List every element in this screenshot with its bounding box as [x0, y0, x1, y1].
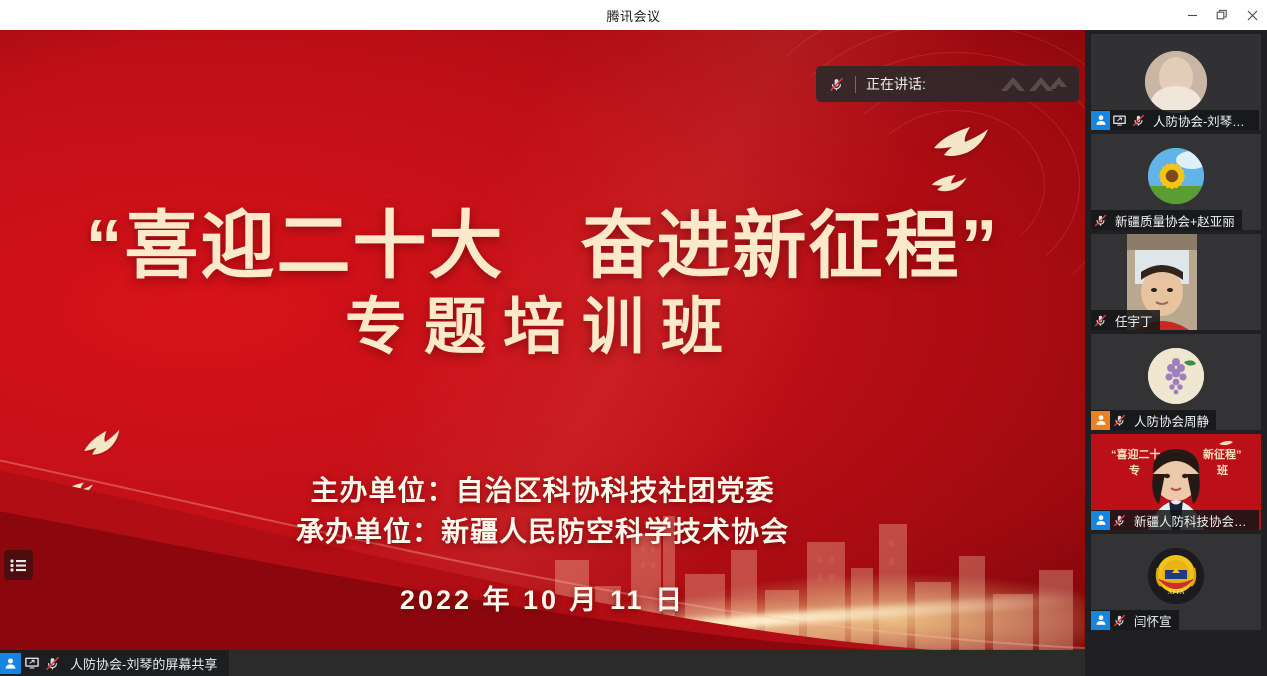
participant-name: 人防协会周静	[1134, 411, 1209, 430]
participant-tile[interactable]: XFPA 闫怀宣	[1091, 534, 1261, 630]
person-icon	[1091, 411, 1110, 430]
speaking-indicator: 正在讲话:	[816, 66, 1079, 102]
mic-muted-icon	[1110, 611, 1129, 630]
screen-share-status-bar: 人防协会-刘琴的屏幕共享	[0, 650, 1085, 676]
slide-organizer-block: 主办单位：自治区科协科技社团党委 承办单位：新疆人民防空科学技术协会	[0, 471, 1085, 552]
person-icon	[1091, 611, 1110, 630]
window-controls	[1177, 0, 1267, 30]
svg-text:专: 专	[1129, 463, 1140, 477]
mic-muted-icon	[826, 74, 847, 95]
slide-date: 2022 年 10 月 11 日	[0, 578, 1085, 617]
svg-text:“喜迎二十: “喜迎二十	[1111, 447, 1161, 461]
avatar	[1145, 51, 1207, 113]
person-icon	[1091, 511, 1110, 530]
mic-muted-icon	[1110, 411, 1129, 430]
participant-label: 任宇丁	[1091, 310, 1160, 330]
presentation-slide: “喜迎二十大 奋进新征程” 专题培训班 主办单位：自治区科协科技社团党委 承办单…	[0, 30, 1085, 650]
slide-title-block: “喜迎二十大 奋进新征程” 专题培训班	[0, 208, 1085, 367]
slide-host-line: 主办单位：自治区科协科技社团党委	[0, 471, 1085, 512]
svg-text:新征程”: 新征程”	[1203, 447, 1242, 461]
lilac-avatar	[1148, 348, 1204, 404]
screen-share-owner-label: 人防协会-刘琴的屏幕共享	[70, 654, 217, 673]
screen-share-pill: 人防协会-刘琴的屏幕共享	[0, 650, 229, 676]
participant-name: 新疆人防科技协会刘健	[1134, 511, 1252, 530]
mic-muted-icon	[1129, 111, 1148, 130]
svg-text:班: 班	[1217, 463, 1228, 477]
meeting-work-area: “喜迎二十大 奋进新征程” 专题培训班 主办单位：自治区科协科技社团党委 承办单…	[0, 30, 1267, 676]
participant-label: 闫怀宣	[1091, 610, 1179, 630]
slide-title-line-1: “喜迎二十大 奋进新征程”	[0, 208, 1085, 283]
mic-muted-icon	[42, 653, 63, 674]
screen-share-icon	[1110, 111, 1129, 130]
participant-label: 新疆人防科技协会刘健	[1091, 510, 1259, 530]
participant-tile[interactable]: 人防协会-刘琴的...	[1091, 34, 1261, 130]
close-button[interactable]	[1237, 0, 1267, 30]
restore-button[interactable]	[1207, 0, 1237, 30]
mic-muted-icon	[1110, 511, 1129, 530]
dove-icon	[928, 168, 969, 201]
speaking-label: 正在讲话:	[866, 74, 926, 94]
participant-label: 人防协会-刘琴的...	[1091, 110, 1259, 130]
participant-tile[interactable]: 人防协会周静	[1091, 334, 1261, 430]
minimize-button[interactable]	[1177, 0, 1207, 30]
mic-muted-icon	[1091, 311, 1110, 330]
participant-filmstrip[interactable]: 人防协会-刘琴的...	[1085, 30, 1267, 676]
participant-tile[interactable]: “喜迎二十 新征程” 专 班	[1091, 434, 1261, 530]
window-title-bar: 腾讯会议	[0, 0, 1267, 30]
emblem-avatar: XFPA	[1148, 548, 1204, 604]
participant-name: 新疆质量协会+赵亚丽	[1115, 211, 1235, 230]
participant-name: 人防协会-刘琴的...	[1153, 111, 1252, 130]
list-icon	[10, 559, 27, 572]
participant-label: 人防协会周静	[1091, 410, 1216, 430]
list-button[interactable]	[4, 550, 33, 580]
svg-text:XFPA: XFPA	[1167, 588, 1184, 596]
shared-screen-stage[interactable]: “喜迎二十大 奋进新征程” 专题培训班 主办单位：自治区科协科技社团党委 承办单…	[0, 30, 1085, 676]
person-icon	[0, 653, 21, 674]
participant-tile[interactable]: 任宇丁	[1091, 234, 1261, 330]
tencent-meeting-watermark-icon	[999, 73, 1067, 102]
participant-tile[interactable]: 新疆质量协会+赵亚丽	[1091, 134, 1261, 230]
slide-title-line-2: 专题培训班	[0, 289, 1085, 367]
app-title: 腾讯会议	[606, 6, 660, 25]
sunflower-avatar	[1148, 148, 1204, 204]
participant-name: 任宇丁	[1115, 311, 1153, 330]
slide-organizer-line: 承办单位：新疆人民防空科学技术协会	[0, 512, 1085, 553]
participant-label: 新疆质量协会+赵亚丽	[1091, 210, 1242, 230]
mic-muted-icon	[1091, 211, 1110, 230]
screen-share-icon	[21, 653, 42, 674]
speaking-divider	[855, 76, 856, 93]
dove-icon	[930, 122, 990, 168]
person-icon	[1091, 111, 1110, 130]
participant-name: 闫怀宣	[1134, 611, 1172, 630]
